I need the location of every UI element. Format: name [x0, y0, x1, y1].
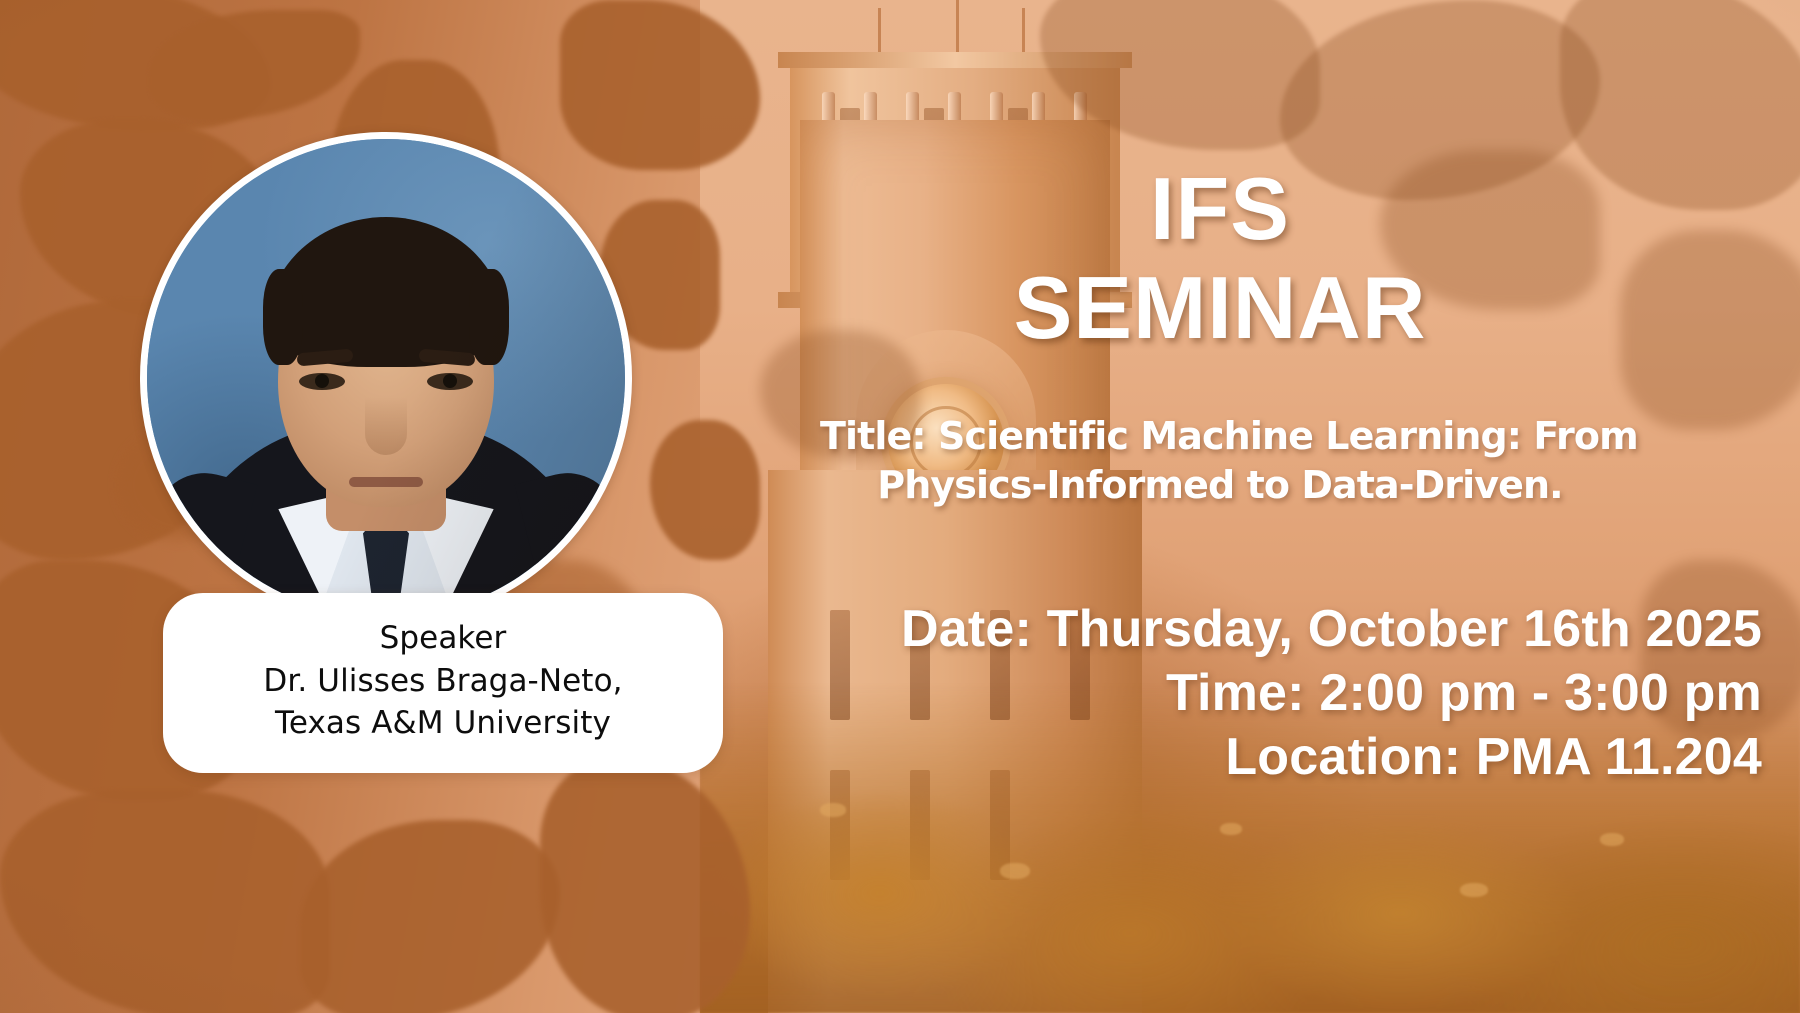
portrait-mouth [349, 477, 423, 487]
speaker-portrait [140, 132, 632, 624]
seminar-poster: Speaker Dr. Ulisses Braga-Neto, Texas A&… [0, 0, 1800, 1013]
heading-line-1: IFS [880, 160, 1560, 259]
portrait-eye-right [427, 373, 473, 390]
speaker-affiliation: Texas A&M University [275, 702, 611, 745]
portrait-circle [140, 132, 632, 624]
event-time: Time: 2:00 pm - 3:00 pm [862, 662, 1762, 726]
speaker-role-label: Speaker [380, 617, 507, 660]
event-date: Date: Thursday, October 16th 2025 [862, 598, 1762, 662]
poster-heading: IFS SEMINAR [880, 160, 1560, 357]
heading-line-2: SEMINAR [880, 259, 1560, 358]
speaker-name: Dr. Ulisses Braga-Neto, [263, 660, 622, 703]
title-line-1: Title: Scientific Machine Learning: From [820, 412, 1620, 461]
event-details: Date: Thursday, October 16th 2025 Time: … [862, 598, 1762, 790]
portrait-eye-left [299, 373, 345, 390]
title-line-2: Physics-Informed to Data-Driven. [820, 461, 1620, 510]
speaker-info-card: Speaker Dr. Ulisses Braga-Neto, Texas A&… [163, 593, 723, 773]
event-location: Location: PMA 11.204 [862, 726, 1762, 790]
talk-title: Title: Scientific Machine Learning: From… [820, 412, 1620, 511]
portrait-nose [365, 397, 407, 455]
